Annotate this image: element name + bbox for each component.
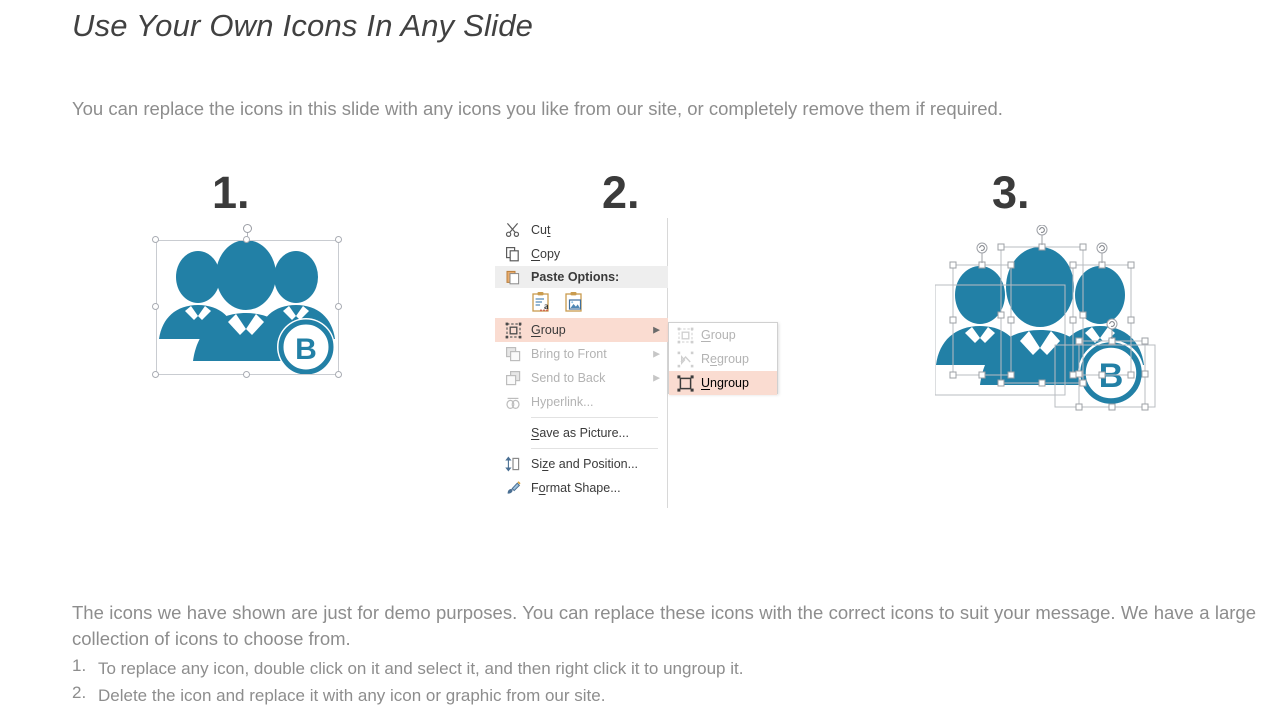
- step3-ungrouped-icon-panel: B: [935, 225, 1160, 415]
- format-shape-icon: [503, 479, 523, 497]
- list-marker: 1.: [72, 656, 98, 682]
- submenu-item-label: Group: [701, 328, 736, 342]
- resize-handle-se[interactable]: [335, 371, 342, 378]
- ungrouped-people-icon: B: [935, 225, 1160, 415]
- resize-handle-nw[interactable]: [152, 236, 159, 243]
- regroup-icon: [675, 350, 695, 368]
- paste-options-row: a: [495, 288, 668, 318]
- submenu-item-label: Ungroup: [701, 376, 749, 390]
- menu-item-group[interactable]: Group ▶: [495, 318, 668, 342]
- footer-paragraph: The icons we have shown are just for dem…: [72, 600, 1256, 652]
- list-text: Delete the icon and replace it with any …: [98, 683, 605, 709]
- copy-icon: [503, 245, 523, 263]
- submenu-item-label: Regroup: [701, 352, 749, 366]
- menu-item-save-as-picture[interactable]: Save as Picture...: [495, 421, 668, 445]
- menu-item-label: Size and Position...: [531, 457, 638, 471]
- step-number-3: 3.: [992, 170, 1030, 215]
- menu-item-label: Save as Picture...: [531, 426, 629, 440]
- menu-item-copy[interactable]: Copy: [495, 242, 668, 266]
- list-marker: 2.: [72, 683, 98, 709]
- paste-picture-icon[interactable]: [564, 291, 585, 316]
- menu-item-label: Send to Back: [531, 371, 605, 385]
- footer-list-item-2: 2. Delete the icon and replace it with a…: [72, 683, 1256, 709]
- menu-item-label: Format Shape...: [531, 481, 621, 495]
- menu-item-label: Copy: [531, 247, 560, 261]
- menu-item-label: Cut: [531, 223, 550, 237]
- step2-context-menu-panel: Cut Copy Paste Option: [495, 218, 790, 508]
- menu-item-bring-to-front: Bring to Front ▶: [495, 342, 668, 366]
- menu-item-send-to-back: Send to Back ▶: [495, 366, 668, 390]
- menu-item-label: Paste Options:: [531, 270, 619, 284]
- menu-item-label: Hyperlink...: [531, 395, 594, 409]
- footer-list-item-1: 1. To replace any icon, double click on …: [72, 656, 1256, 682]
- menu-item-size-and-position[interactable]: Size and Position...: [495, 452, 668, 476]
- list-text: To replace any icon, double click on it …: [98, 656, 743, 682]
- scissors-icon: [503, 221, 523, 239]
- hyperlink-icon: [503, 393, 523, 411]
- send-to-back-icon: [503, 369, 523, 387]
- selection-frame: [156, 240, 339, 375]
- menu-item-cut[interactable]: Cut: [495, 218, 668, 242]
- page-title: Use Your Own Icons In Any Slide: [72, 8, 533, 44]
- group-icon: [503, 321, 523, 339]
- resize-handle-ne[interactable]: [335, 236, 342, 243]
- resize-handle-sw[interactable]: [152, 371, 159, 378]
- ungroup-icon: [675, 374, 695, 392]
- submenu-item-ungroup[interactable]: Ungroup: [669, 371, 777, 395]
- chevron-right-icon: ▶: [653, 325, 660, 336]
- group-icon: [675, 326, 695, 344]
- menu-item-hyperlink: Hyperlink...: [495, 390, 668, 414]
- resize-handle-w[interactable]: [152, 303, 159, 310]
- step-number-1: 1.: [212, 170, 250, 215]
- menu-divider: [531, 448, 658, 449]
- resize-handle-n[interactable]: [243, 236, 250, 243]
- svg-text:a: a: [544, 301, 549, 311]
- menu-item-format-shape[interactable]: Format Shape...: [495, 476, 668, 500]
- context-menu[interactable]: Cut Copy Paste Option: [495, 218, 668, 508]
- rotation-handle[interactable]: [243, 224, 252, 233]
- submenu-item-regroup: Regroup: [669, 347, 777, 371]
- paste-icon: [503, 268, 523, 286]
- chevron-right-icon: ▶: [653, 349, 660, 360]
- slide-canvas: Use Your Own Icons In Any Slide You can …: [0, 0, 1280, 720]
- step1-grouped-icon-panel: B: [140, 225, 355, 395]
- size-position-icon: [503, 455, 523, 473]
- submenu-item-group: Group: [669, 323, 777, 347]
- paste-keep-source-formatting-icon[interactable]: a: [531, 291, 552, 316]
- menu-item-paste-options-header: Paste Options:: [495, 266, 668, 288]
- menu-item-label: Group: [531, 323, 566, 337]
- step-number-2: 2.: [602, 170, 640, 215]
- menu-divider: [531, 417, 658, 418]
- resize-handle-s[interactable]: [243, 371, 250, 378]
- group-submenu[interactable]: Group Regroup: [668, 322, 778, 394]
- footer-block: The icons we have shown are just for dem…: [72, 600, 1256, 709]
- bring-to-front-icon: [503, 345, 523, 363]
- resize-handle-e[interactable]: [335, 303, 342, 310]
- intro-paragraph: You can replace the icons in this slide …: [72, 94, 1184, 123]
- menu-item-label: Bring to Front: [531, 347, 607, 361]
- chevron-right-icon: ▶: [653, 373, 660, 384]
